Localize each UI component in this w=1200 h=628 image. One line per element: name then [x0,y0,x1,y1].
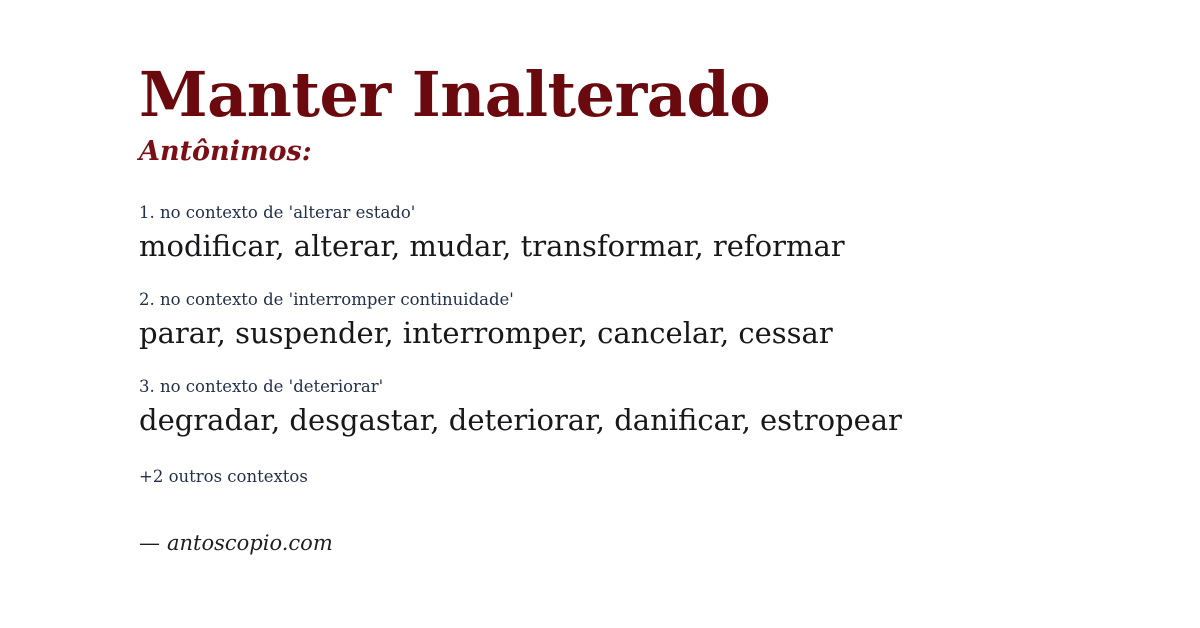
sense-list: 1. no contexto de 'alterar estado' modif… [139,165,1149,437]
em-dash-icon: — [139,531,167,555]
more-contexts-note: +2 outros contextos [139,437,1149,487]
antonym-card: Manter Inalterado Antônimos: 1. no conte… [0,0,1200,628]
sense-context-label: 2. no contexto de 'interromper continuid… [139,290,1149,310]
sense-term-list: parar, suspender, interromper, cancelar,… [139,316,1149,350]
sense-context-label: 3. no contexto de 'deteriorar' [139,377,1149,397]
source-attribution: —antoscopio.com [139,487,1149,556]
source-name: antoscopio.com [167,531,333,555]
sense-term-list: modificar, alterar, mudar, transformar, … [139,229,1149,263]
sense-entry: 3. no contexto de 'deteriorar' degradar,… [139,377,1149,437]
relation-type-label: Antônimos: [139,126,1149,165]
sense-term-list: degradar, desgastar, deteriorar, danific… [139,403,1149,437]
sense-entry: 1. no contexto de 'alterar estado' modif… [139,203,1149,263]
page-title: Manter Inalterado [139,0,1149,126]
sense-context-label: 1. no contexto de 'alterar estado' [139,203,1149,223]
card-content: Manter Inalterado Antônimos: 1. no conte… [139,0,1149,556]
sense-entry: 2. no contexto de 'interromper continuid… [139,290,1149,350]
